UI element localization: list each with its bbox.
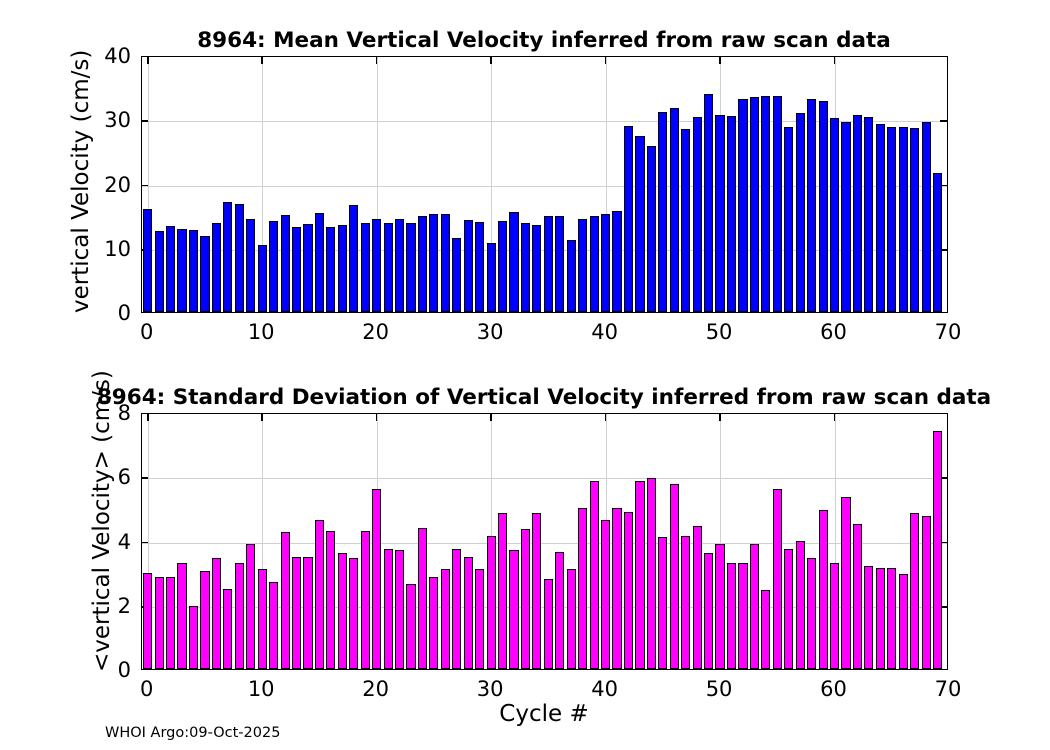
- chart-title-std-velocity: 8964: Standard Deviation of Vertical Vel…: [97, 387, 991, 409]
- bar: [738, 563, 747, 669]
- bar: [807, 558, 816, 669]
- bar: [544, 579, 553, 669]
- bar: [452, 238, 461, 312]
- y-axis-tick: [940, 120, 947, 122]
- bar: [670, 484, 679, 669]
- bar: [475, 569, 484, 669]
- bar: [853, 115, 862, 312]
- bar: [578, 508, 587, 669]
- y-axis-title-std-velocity: <vertical Velocity> (cm/s): [91, 370, 114, 672]
- bar: [372, 219, 381, 312]
- bar: [796, 113, 805, 312]
- x-axis-tick: [147, 57, 149, 64]
- bar: [670, 108, 679, 312]
- bar: [429, 577, 438, 669]
- bar: [269, 221, 278, 312]
- bar: [143, 209, 152, 312]
- bar: [841, 497, 850, 669]
- x-tick-label: 40: [591, 322, 618, 343]
- bar: [887, 568, 896, 669]
- bar: [796, 541, 805, 670]
- bar: [223, 589, 232, 669]
- bar: [521, 529, 530, 669]
- x-axis-tick: [834, 414, 836, 421]
- bar: [487, 536, 496, 669]
- bar: [338, 553, 347, 669]
- x-tick-label: 30: [477, 322, 504, 343]
- bar: [567, 240, 576, 312]
- bar: [532, 225, 541, 312]
- bar: [933, 431, 942, 669]
- bar: [704, 553, 713, 669]
- bar: [715, 544, 724, 669]
- bar: [498, 513, 507, 669]
- bar: [899, 127, 908, 312]
- bar: [612, 211, 621, 313]
- bar: [372, 489, 381, 669]
- x-axis-tick: [719, 57, 721, 64]
- bar: [750, 544, 759, 669]
- bar: [635, 481, 644, 669]
- bar: [658, 537, 667, 669]
- bar: [166, 226, 175, 312]
- bar: [784, 127, 793, 312]
- bar: [200, 236, 209, 312]
- bar: [635, 136, 644, 312]
- x-tick-label: 20: [362, 322, 389, 343]
- bar: [395, 550, 404, 669]
- bar: [258, 569, 267, 669]
- bar: [590, 216, 599, 312]
- x-tick-label: 50: [706, 322, 733, 343]
- bar: [807, 99, 816, 312]
- bar: [269, 582, 278, 669]
- bar: [910, 128, 919, 312]
- bar: [384, 223, 393, 312]
- bar: [887, 127, 896, 312]
- bar: [464, 220, 473, 312]
- x-tick-label: 40: [591, 679, 618, 700]
- bar: [693, 117, 702, 312]
- y-tick-label: 8: [118, 403, 131, 424]
- bar: [235, 563, 244, 669]
- bar: [601, 520, 610, 669]
- bar: [658, 112, 667, 312]
- bar: [761, 96, 770, 312]
- x-axis-tick: [490, 57, 492, 64]
- bar: [326, 227, 335, 312]
- bar: [475, 222, 484, 312]
- x-tick-label: 50: [706, 679, 733, 700]
- bar: [578, 219, 587, 312]
- bar: [281, 532, 290, 669]
- bar: [441, 569, 450, 669]
- y-tick-label: 0: [118, 303, 131, 324]
- bar: [727, 563, 736, 669]
- bar: [819, 510, 828, 669]
- bar: [509, 212, 518, 312]
- bar: [292, 227, 301, 312]
- bar: [315, 213, 324, 312]
- bar: [899, 574, 908, 669]
- bar: [544, 216, 553, 312]
- bar: [212, 223, 221, 312]
- plot-area-mean-velocity: [142, 57, 947, 312]
- bar: [464, 557, 473, 669]
- x-tick-label: 70: [935, 322, 962, 343]
- bar: [155, 577, 164, 669]
- bar: [246, 544, 255, 669]
- bar: [292, 557, 301, 669]
- bar: [612, 508, 621, 669]
- bar: [922, 122, 931, 312]
- bar: [864, 117, 873, 312]
- bar: [303, 224, 312, 312]
- bar: [738, 99, 747, 312]
- bar: [750, 97, 759, 312]
- x-tick-label: 70: [935, 679, 962, 700]
- x-tick-label: 0: [140, 679, 153, 700]
- y-tick-label: 20: [104, 175, 131, 196]
- footer-credit: WHOI Argo:09-Oct-2025: [105, 726, 280, 741]
- bar: [532, 513, 541, 669]
- bar: [876, 568, 885, 669]
- x-tick-label: 20: [362, 679, 389, 700]
- x-axis-tick: [147, 414, 149, 421]
- bar: [143, 573, 152, 669]
- bar: [601, 214, 610, 312]
- bar: [498, 221, 507, 312]
- bar: [406, 584, 415, 669]
- bar: [246, 219, 255, 312]
- bar: [315, 520, 324, 669]
- x-axis-tick: [605, 414, 607, 421]
- bar: [784, 549, 793, 669]
- bar: [212, 558, 221, 669]
- x-axis-tick: [490, 414, 492, 421]
- bar: [933, 173, 942, 312]
- bar: [555, 216, 564, 312]
- x-tick-label: 0: [140, 322, 153, 343]
- x-tick-label: 60: [820, 322, 847, 343]
- y-axis-title-mean-velocity: vertical Velocity (cm/s): [70, 50, 93, 313]
- y-tick-label: 30: [104, 110, 131, 131]
- bar: [509, 550, 518, 669]
- bar: [841, 122, 850, 312]
- bar: [384, 549, 393, 669]
- bar: [349, 205, 358, 312]
- plot-axes-mean-velocity: [141, 56, 948, 313]
- bar: [567, 569, 576, 669]
- bar: [715, 115, 724, 312]
- x-tick-label: 30: [477, 679, 504, 700]
- x-tick-label: 10: [248, 679, 275, 700]
- bar: [326, 531, 335, 669]
- x-axis-title-cycle: Cycle #: [499, 703, 588, 726]
- bar: [864, 566, 873, 669]
- bar: [624, 512, 633, 669]
- y-tick-label: 4: [118, 532, 131, 553]
- bar: [761, 590, 770, 669]
- y-tick-label: 40: [104, 46, 131, 67]
- bar: [624, 126, 633, 312]
- bar: [853, 524, 862, 669]
- bar: [200, 571, 209, 669]
- bar: [773, 96, 782, 312]
- bar: [166, 577, 175, 669]
- bar: [441, 214, 450, 312]
- bar: [155, 231, 164, 312]
- argo-vertical-velocity-figure: 8964: Mean Vertical Velocity inferred fr…: [0, 0, 1050, 750]
- x-tick-label: 10: [248, 322, 275, 343]
- x-axis-tick: [261, 414, 263, 421]
- bar: [429, 214, 438, 312]
- bar: [361, 223, 370, 312]
- bar: [452, 549, 461, 669]
- x-axis-tick: [719, 414, 721, 421]
- bar: [922, 516, 931, 669]
- bar: [910, 513, 919, 669]
- plot-axes-std-velocity: [141, 413, 948, 670]
- y-tick-label: 6: [118, 467, 131, 488]
- y-tick-label: 0: [118, 660, 131, 681]
- x-axis-tick: [834, 57, 836, 64]
- bar: [487, 243, 496, 312]
- bar: [189, 606, 198, 669]
- bar: [555, 552, 564, 669]
- bar: [830, 563, 839, 669]
- bar: [647, 146, 656, 312]
- bar: [303, 557, 312, 669]
- bar: [177, 563, 186, 669]
- bar: [177, 229, 186, 312]
- chart-title-mean-velocity: 8964: Mean Vertical Velocity inferred fr…: [197, 30, 891, 52]
- bar: [704, 94, 713, 312]
- bar: [830, 118, 839, 312]
- bar: [418, 528, 427, 669]
- bar: [647, 478, 656, 669]
- bar: [727, 116, 736, 312]
- bar: [681, 536, 690, 669]
- bar: [681, 129, 690, 312]
- plot-area-std-velocity: [142, 414, 947, 669]
- bar: [281, 215, 290, 312]
- bar: [406, 223, 415, 312]
- y-tick-label: 10: [104, 239, 131, 260]
- bar: [223, 202, 232, 313]
- bar: [773, 489, 782, 669]
- x-tick-label: 60: [820, 679, 847, 700]
- x-axis-tick: [376, 414, 378, 421]
- x-axis-tick: [376, 57, 378, 64]
- bar: [338, 225, 347, 312]
- bar: [590, 481, 599, 669]
- bar: [819, 101, 828, 312]
- bar: [395, 219, 404, 312]
- bar: [258, 245, 267, 312]
- bar: [189, 230, 198, 312]
- bar: [235, 204, 244, 312]
- bar: [361, 531, 370, 669]
- bar: [418, 216, 427, 312]
- y-tick-label: 2: [118, 596, 131, 617]
- bar: [876, 124, 885, 312]
- bar: [521, 223, 530, 312]
- x-axis-tick: [605, 57, 607, 64]
- x-axis-tick: [261, 57, 263, 64]
- bar: [349, 558, 358, 669]
- bar: [693, 526, 702, 669]
